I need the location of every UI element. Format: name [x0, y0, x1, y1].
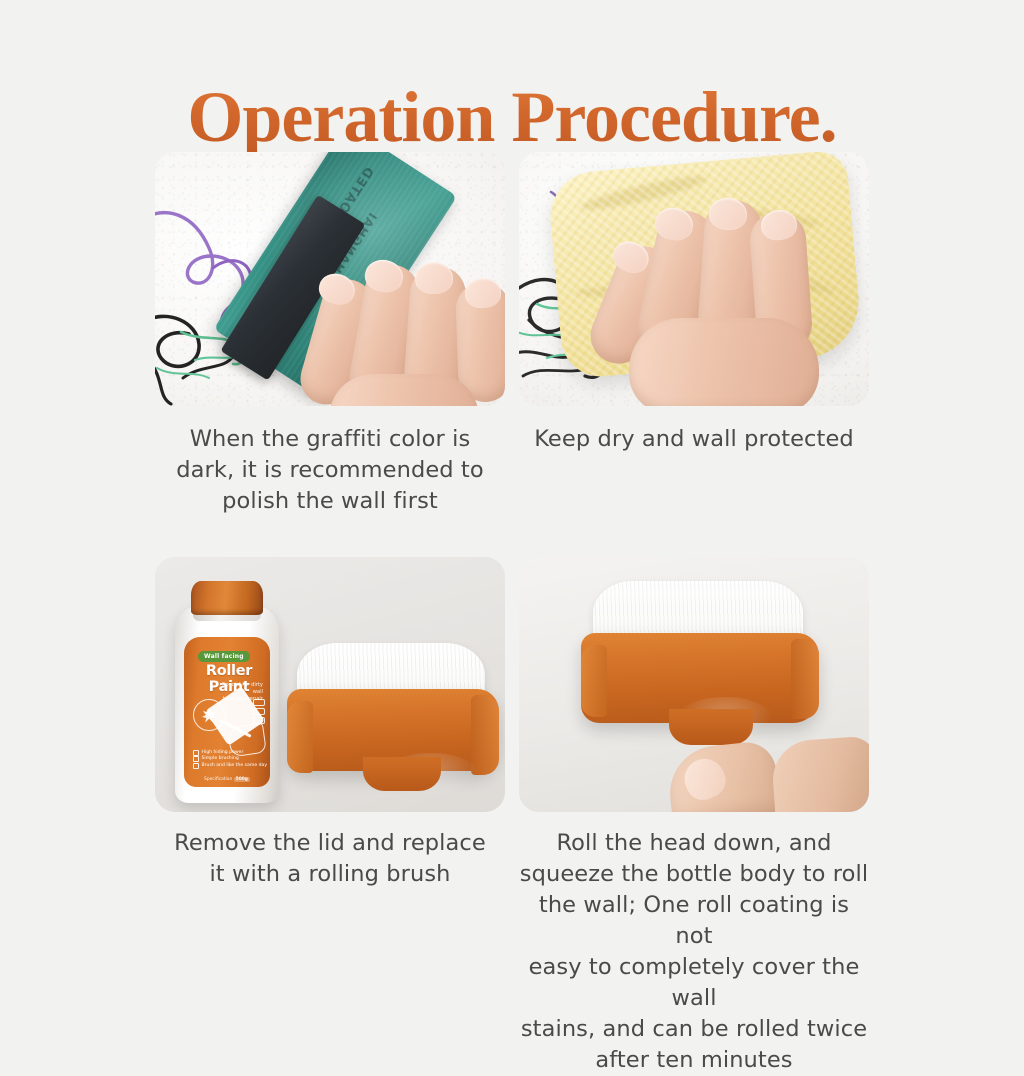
steps-grid: ELECTRO COATED SHANGHAI: [155, 152, 869, 1076]
label-feature-list: High hiding power Simple brushing Brush …: [193, 750, 267, 769]
thumbnail-icon: [678, 753, 731, 806]
step-2-photo: [519, 152, 869, 406]
fingernail: [415, 262, 453, 294]
step-4-caption: Roll the head down, and squeeze the bott…: [519, 828, 869, 1076]
label-spec-text: Specification: [204, 777, 232, 782]
label-feature-item: Brush and like the same day: [193, 763, 267, 769]
hand-holding-sponge: [301, 256, 505, 406]
label-badge: Wall facing: [198, 651, 250, 662]
step-1-caption: When the graffiti color is dark, it is r…: [155, 424, 505, 517]
infographic-page: Operation Procedure.: [0, 0, 1024, 1024]
bottle-cap: [191, 581, 263, 615]
roller-lip-left: [287, 701, 313, 773]
check-icon: [193, 750, 199, 756]
roller-head-attachment: [287, 643, 499, 795]
step-2-caption: Keep dry and wall protected: [519, 424, 869, 455]
step-card-3: Wall facing Roller Paint Special for dir…: [155, 557, 505, 1076]
roller-lip-left: [581, 645, 607, 717]
step-card-2: Keep dry and wall protected: [519, 152, 869, 517]
step-3-caption: Remove the lid and replace it with a rol…: [155, 828, 505, 890]
hand-wiping-cloth: [603, 178, 853, 406]
label-pill-marks: [253, 699, 263, 726]
roller-lip-right: [791, 639, 819, 719]
label-specification: Specification 500g: [184, 777, 270, 782]
page-title: Operation Procedure.: [0, 76, 1024, 159]
step-3-photo: Wall facing Roller Paint Special for dir…: [155, 557, 505, 812]
step-4-photo: [519, 557, 869, 812]
label-feature-text: Brush and like the same day: [202, 763, 268, 769]
step-card-1: ELECTRO COATED SHANGHAI: [155, 152, 505, 517]
step-card-4: Roll the head down, and squeeze the bott…: [519, 557, 869, 1076]
steps-row-1: ELECTRO COATED SHANGHAI: [155, 152, 869, 517]
paint-bottle: Wall facing Roller Paint Special for dir…: [175, 581, 279, 803]
roller-lip-right: [471, 695, 499, 775]
roller-stem: [363, 757, 441, 791]
step-1-photo: ELECTRO COATED SHANGHAI: [155, 152, 505, 406]
hand-pressing-roller: [669, 739, 869, 812]
check-icon: [193, 756, 199, 762]
check-icon: [193, 763, 199, 769]
product-label: Wall facing Roller Paint Special for dir…: [184, 637, 270, 787]
roller-head-on-wall: [581, 581, 819, 739]
finger: [770, 735, 869, 812]
label-spec-value: 500g: [234, 777, 250, 782]
thumb: [665, 740, 780, 812]
steps-row-2: Wall facing Roller Paint Special for dir…: [155, 557, 869, 1076]
